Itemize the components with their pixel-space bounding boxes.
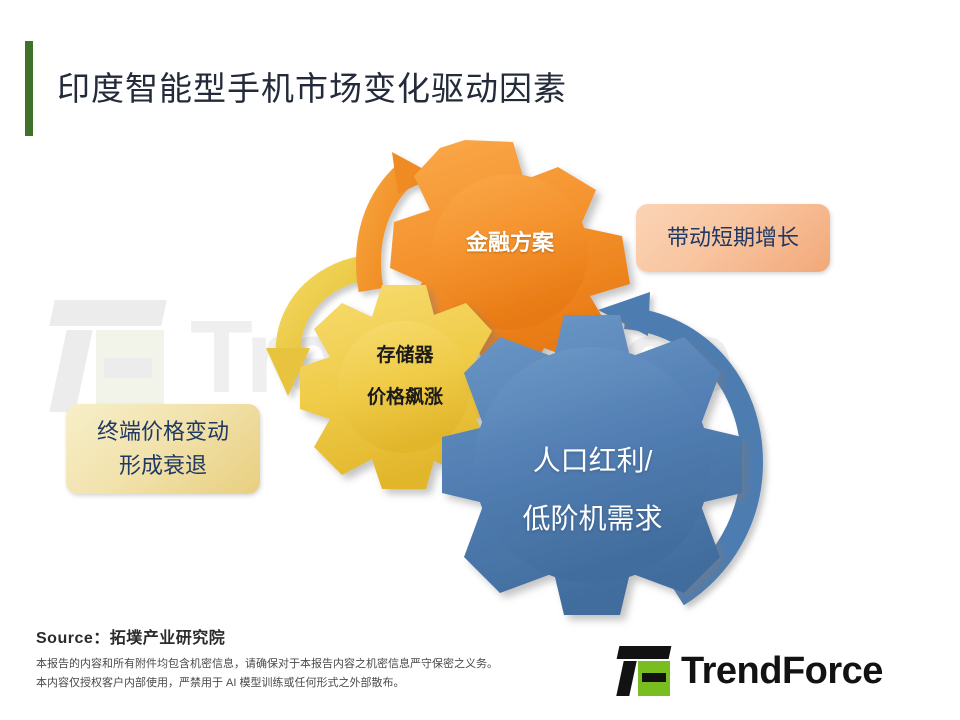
short-term-growth-callout-line-1: 带动短期增长 — [667, 223, 799, 253]
disclaimer: 本报告的内容和所有附件均包含机密信息，请确保对于本报告内容之机密信息严守保密之义… — [36, 655, 498, 693]
gear-blue — [442, 315, 742, 615]
disclaimer-line-2: 本内容仅授权客户内部使用，严禁用于 AI 模型训练或任何形式之外部散布。 — [36, 674, 498, 693]
source-label: Source：拓墣产业研究院 — [36, 624, 225, 648]
trendforce-logo: TrendForce — [618, 645, 883, 697]
short-term-growth-callout: 带动短期增长 — [636, 204, 830, 272]
gears-diagram — [0, 0, 960, 720]
trendforce-logo-text: TrendForce — [681, 652, 883, 690]
price-decline-callout: 终端价格变动 形成衰退 — [66, 404, 260, 494]
price-decline-callout-line-2: 形成衰退 — [97, 449, 229, 483]
price-decline-callout-line-1: 终端价格变动 — [97, 415, 229, 449]
trendforce-logo-mark-icon — [618, 646, 670, 696]
disclaimer-line-1: 本报告的内容和所有附件均包含机密信息，请确保对于本报告内容之机密信息严守保密之义… — [36, 655, 498, 674]
